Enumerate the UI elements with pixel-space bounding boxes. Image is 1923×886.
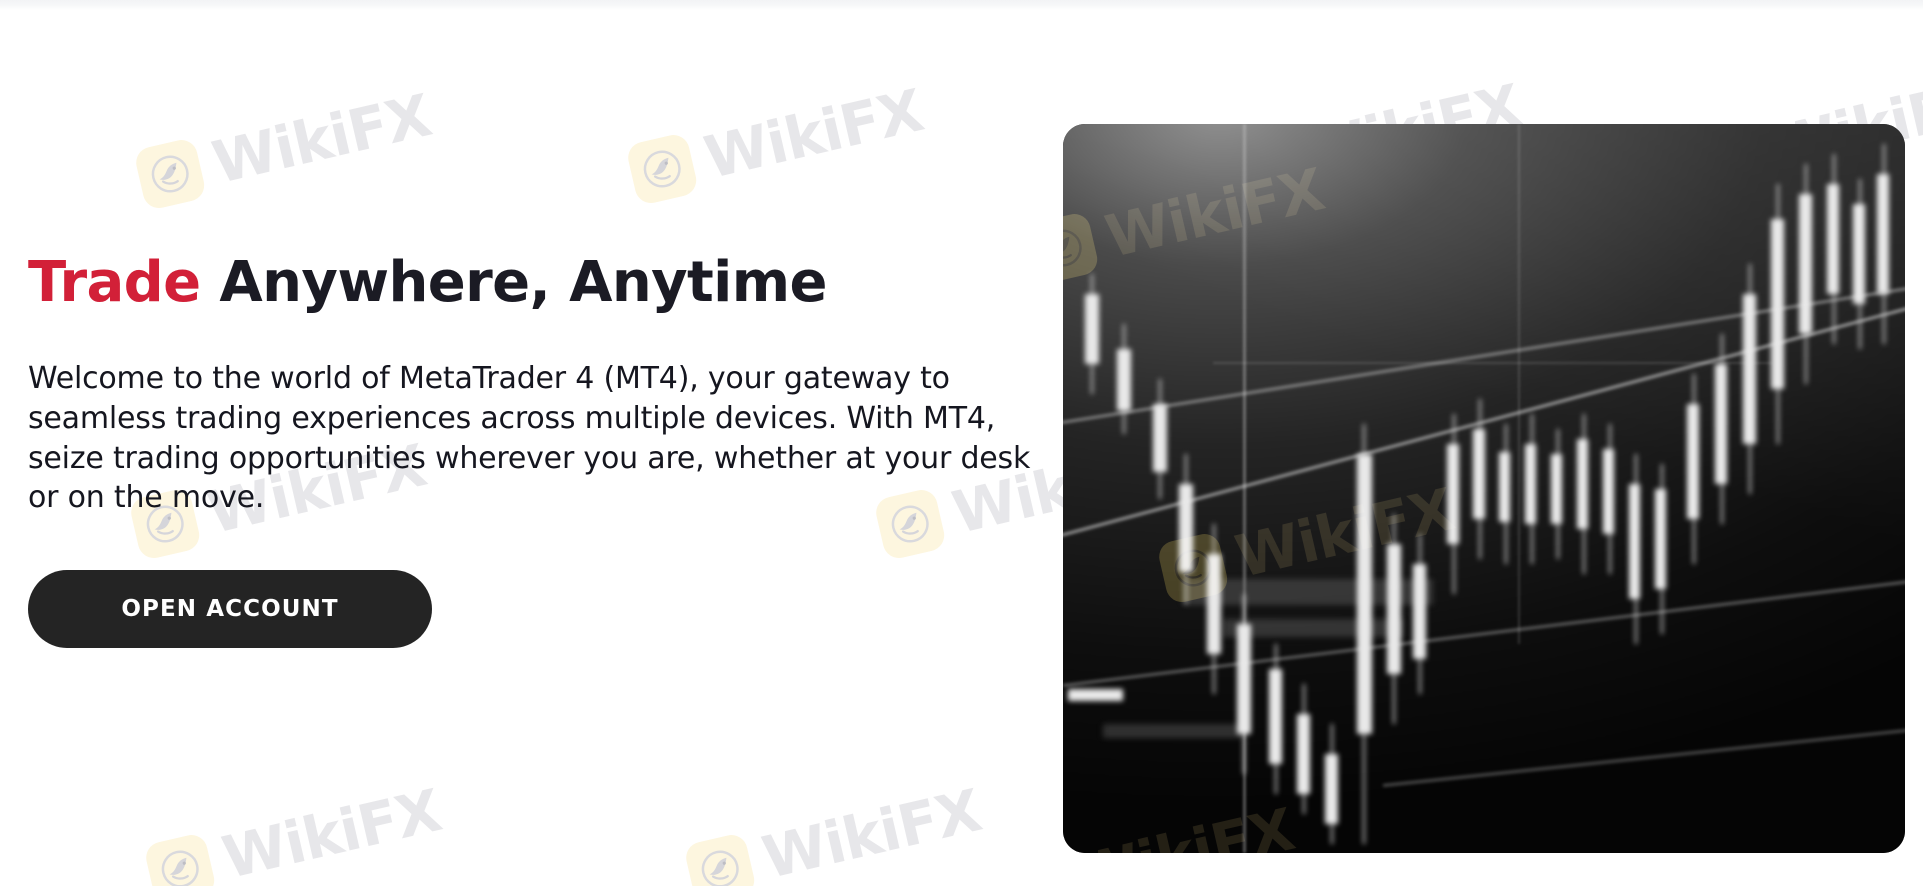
- hero-description: Welcome to the world of MetaTrader 4 (MT…: [28, 359, 1038, 519]
- page-root: WikiFX WikiFX: [0, 0, 1923, 886]
- open-account-button[interactable]: OPEN ACCOUNT: [28, 570, 432, 648]
- hero-content: Trade Anywhere, Anytime Welcome to the w…: [0, 0, 1923, 886]
- hero-text-column: Trade Anywhere, Anytime Welcome to the w…: [28, 252, 1038, 648]
- page-title: Trade Anywhere, Anytime: [28, 252, 1038, 315]
- page-title-accent: Trade: [28, 250, 201, 315]
- page-title-rest: Anywhere, Anytime: [201, 250, 827, 315]
